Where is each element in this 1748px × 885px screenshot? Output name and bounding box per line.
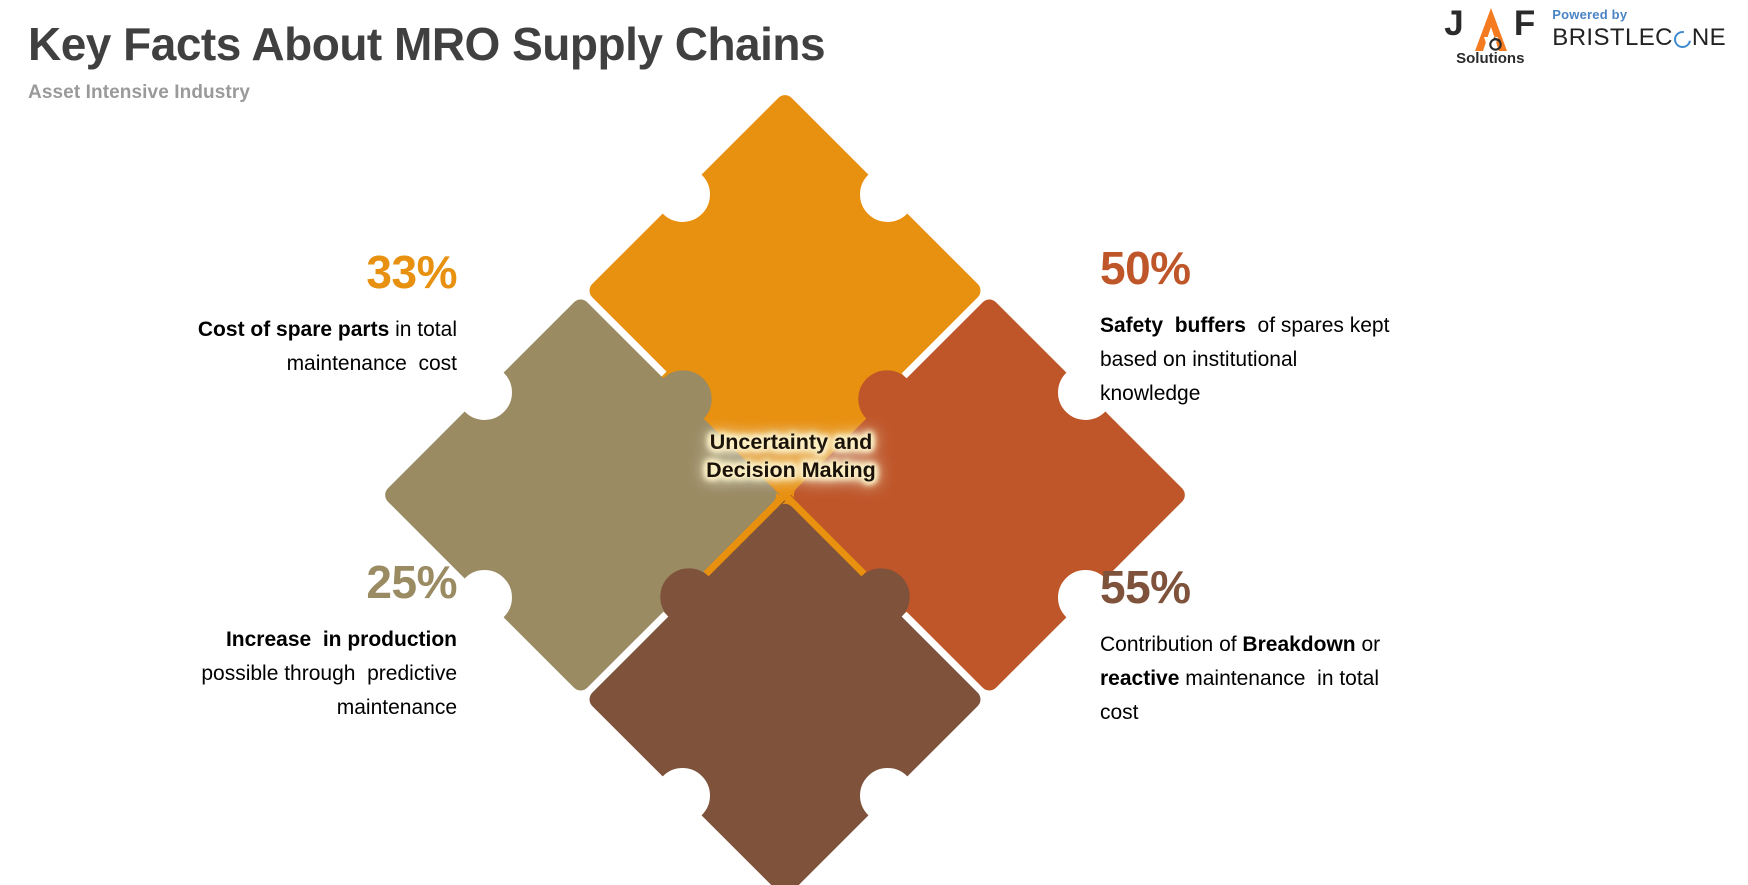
jaf-solutions-label: Solutions [1442,51,1538,66]
fact-value-33: 33% [72,248,457,296]
fact-block-33: 33% Cost of spare parts in total mainten… [72,248,457,381]
fact-value-50: 50% [1100,244,1485,292]
page-title: Key Facts About MRO Supply Chains [28,18,1028,71]
fact-block-50: 50% Safety buffers of spares kept based … [1100,244,1485,411]
fact-desc-25: Increase in production possible through … [72,623,457,725]
bristlecone-logo: Powered by BRISTLEC NE [1552,4,1726,50]
jaf-wordmark: J F [1442,6,1538,44]
logo-area: J F Solutions Powered by BRISTLEC NE [1442,4,1726,66]
fact-block-55: 55% Contribution of Breakdown or reactiv… [1100,563,1485,730]
powered-by-label: Powered by [1552,8,1726,21]
fact-desc-55: Contribution of Breakdown or reactive ma… [1100,628,1485,730]
fact-value-55: 55% [1100,563,1485,611]
page-subtitle: Asset Intensive Industry [28,82,1028,104]
bristlecone-text-part2: NE [1692,26,1726,50]
fact-value-25: 25% [72,558,457,606]
header: Key Facts About MRO Supply Chains Asset … [28,18,1028,104]
bristlecone-text-part1: BRISTLEC [1552,26,1673,50]
bristlecone-o-ring-icon [1671,27,1695,51]
puzzle-graphic [495,205,1075,785]
fact-block-25: 25% Increase in production possible thro… [72,558,457,725]
a-triangle-icon [1473,7,1509,53]
fact-desc-33: Cost of spare parts in total maintenance… [72,313,457,381]
jaf-letter-f: F [1514,6,1536,41]
jaf-letter-j: J [1444,6,1464,41]
bristlecone-wordmark: BRISTLEC NE [1552,26,1726,50]
jaf-solutions-logo: J F Solutions [1442,4,1538,66]
fact-desc-50: Safety buffers of spares kept based on i… [1100,309,1485,411]
